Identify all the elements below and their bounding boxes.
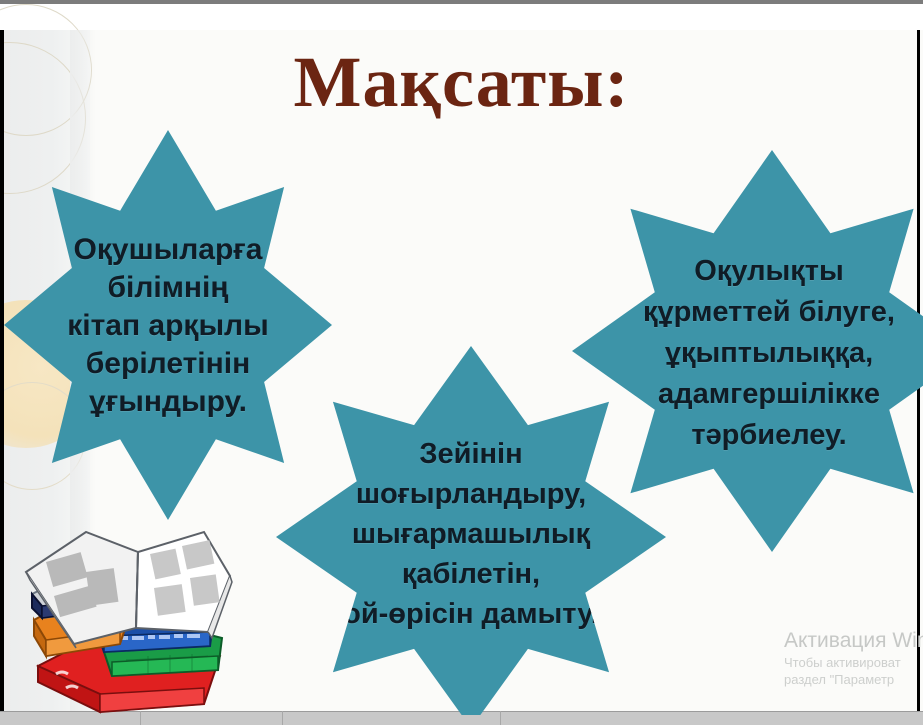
goal-star-center: Зейінін шоғырландыру, шығармашылық қабіл… bbox=[276, 346, 666, 715]
goal-star-left: Оқушыларға білімнің кітап арқылы берілет… bbox=[4, 130, 332, 520]
slide-top-white-band bbox=[0, 4, 923, 30]
slide-canvas: Мақсаты: Оқулықты құрметтей білуге, ұқып… bbox=[0, 4, 923, 715]
windows-activation-watermark: Активация Win Чтобы активироват раздел "… bbox=[784, 628, 923, 688]
window-edge-left bbox=[0, 30, 4, 715]
watermark-title: Активация Win bbox=[784, 628, 923, 654]
presentation-slide: Мақсаты: Оқулықты құрметтей білуге, ұқып… bbox=[0, 0, 923, 725]
watermark-line-1: Чтобы активироват bbox=[784, 654, 923, 671]
stack-of-books-illustration bbox=[8, 516, 254, 715]
goal-star-center-text: Зейінін шоғырландыру, шығармашылық қабіл… bbox=[306, 434, 636, 634]
goal-star-right: Оқулықты құрметтей білуге, ұқыптылыққа, … bbox=[572, 150, 923, 552]
bottom-strip-divider bbox=[282, 711, 283, 725]
bottom-strip-divider bbox=[500, 711, 501, 725]
goal-star-left-text: Оқушыларға білімнің кітап арқылы берілет… bbox=[33, 231, 303, 421]
goal-star-right-text: Оқулықты құрметтей білуге, ұқыптылыққа, … bbox=[604, 251, 923, 456]
watermark-line-2: раздел "Параметр bbox=[784, 671, 923, 688]
slide-title: Мақсаты: bbox=[0, 42, 923, 122]
